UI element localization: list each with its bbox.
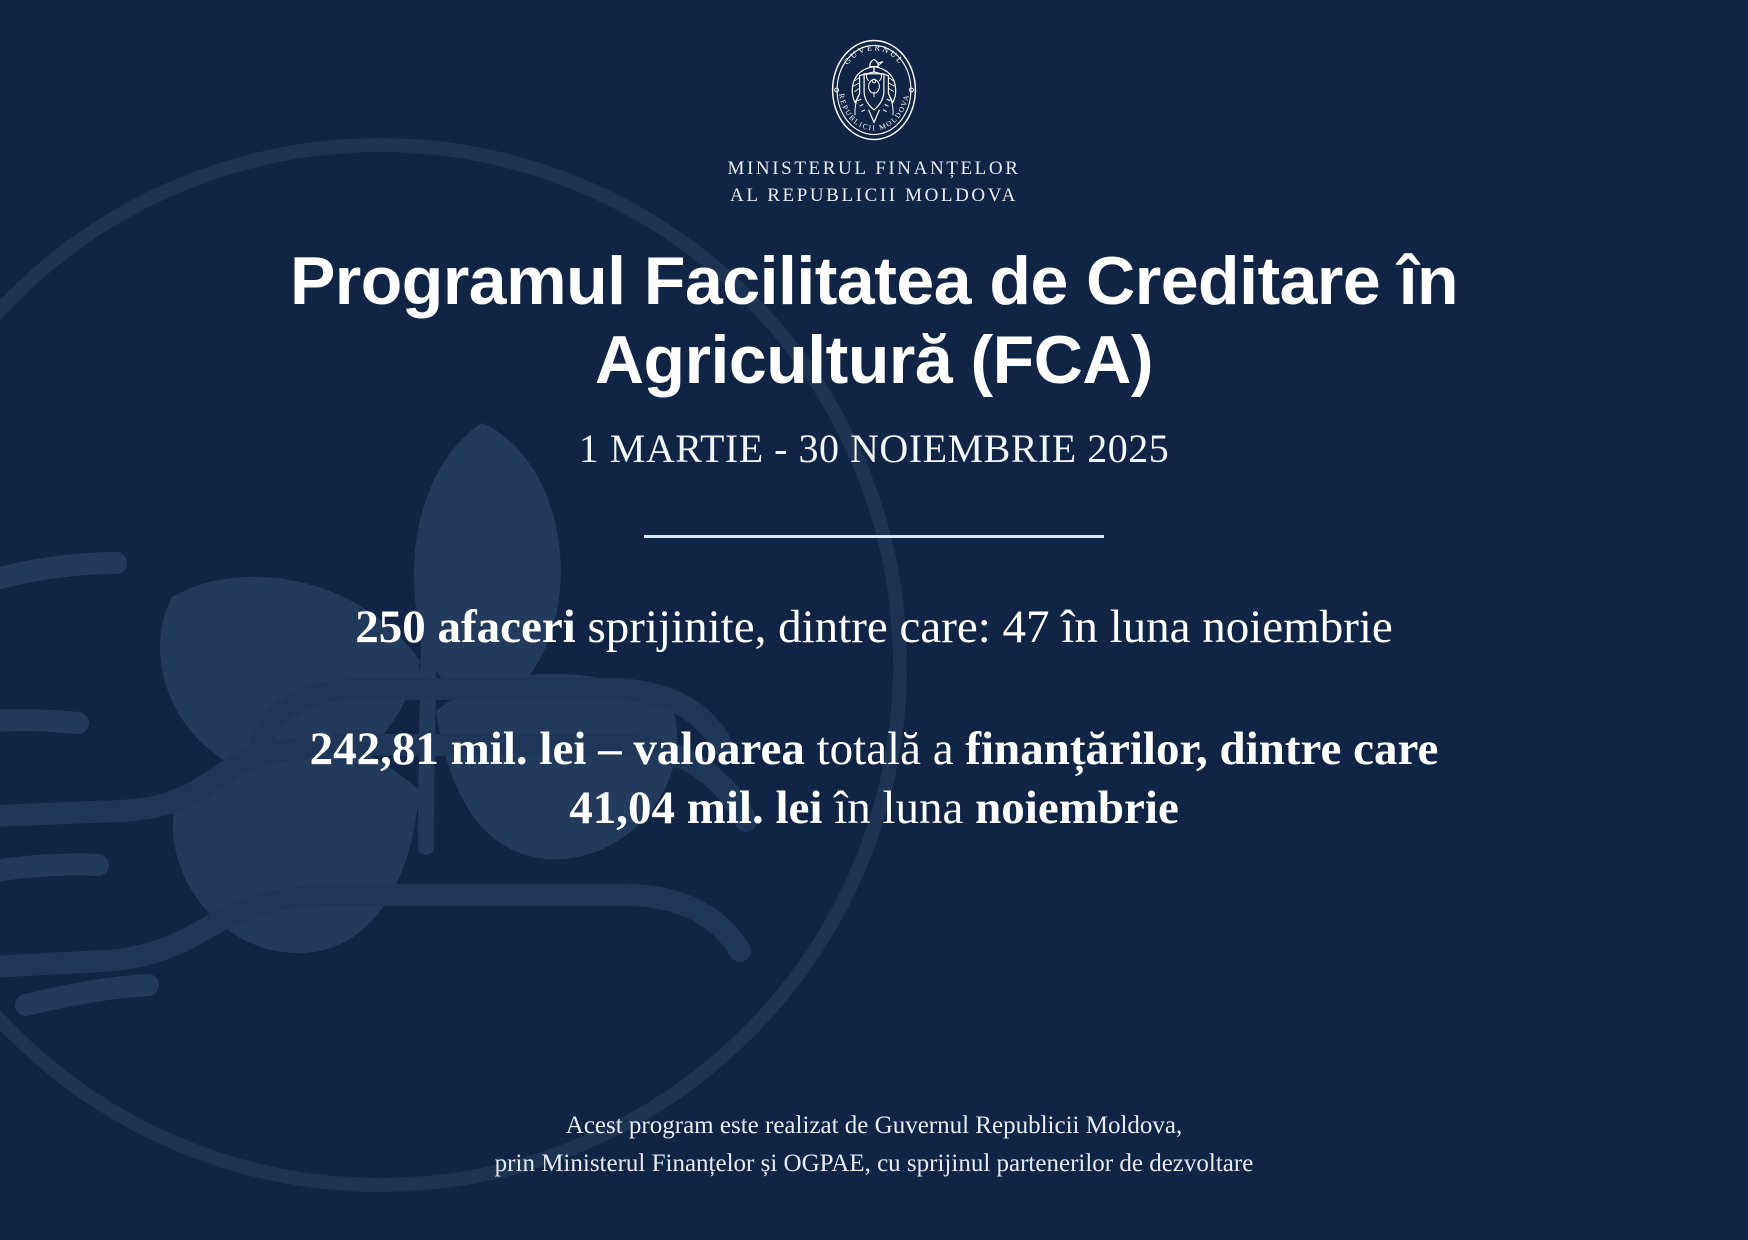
title-divider [644, 535, 1104, 538]
page-title: Programul Facilitatea de Creditare în Ag… [0, 242, 1748, 400]
ministry-line-1: MINISTERUL FINANȚELOR [728, 158, 1021, 179]
ministry-name: MINISTERUL FINANȚELOR AL REPUBLICII MOLD… [728, 156, 1021, 210]
stat-businesses-supported: 250 afaceri sprijinite, dintre care: 47 … [269, 598, 1479, 658]
poster-canvas: GUVERNUL REPUBLICII MOLDOVA [0, 0, 1748, 1240]
poster-header: GUVERNUL REPUBLICII MOLDOVA [0, 36, 1748, 210]
ministry-line-2: AL REPUBLICII MOLDOVA [728, 183, 1021, 210]
footer-line-2: prin Ministerul Finanțelor și OGPAE, cu … [0, 1145, 1748, 1183]
footer-line-1: Acest program este realizat de Guvernul … [0, 1107, 1748, 1145]
svg-text:GUVERNUL: GUVERNUL [842, 43, 906, 66]
program-period: 1 MARTIE - 30 NOIEMBRIE 2025 [0, 425, 1748, 472]
stat-total-financing-value: 242,81 mil. lei – valoarea totală a fina… [269, 720, 1479, 839]
title-block: Programul Facilitatea de Creditare în Ag… [0, 242, 1748, 400]
statistics-block: 250 afaceri sprijinite, dintre care: 47 … [0, 598, 1748, 839]
coat-of-arms-moldova-icon: GUVERNUL REPUBLICII MOLDOVA [820, 36, 928, 144]
svg-text:REPUBLICII MOLDOVA: REPUBLICII MOLDOVA [837, 93, 911, 133]
footer-note: Acest program este realizat de Guvernul … [0, 1107, 1748, 1182]
